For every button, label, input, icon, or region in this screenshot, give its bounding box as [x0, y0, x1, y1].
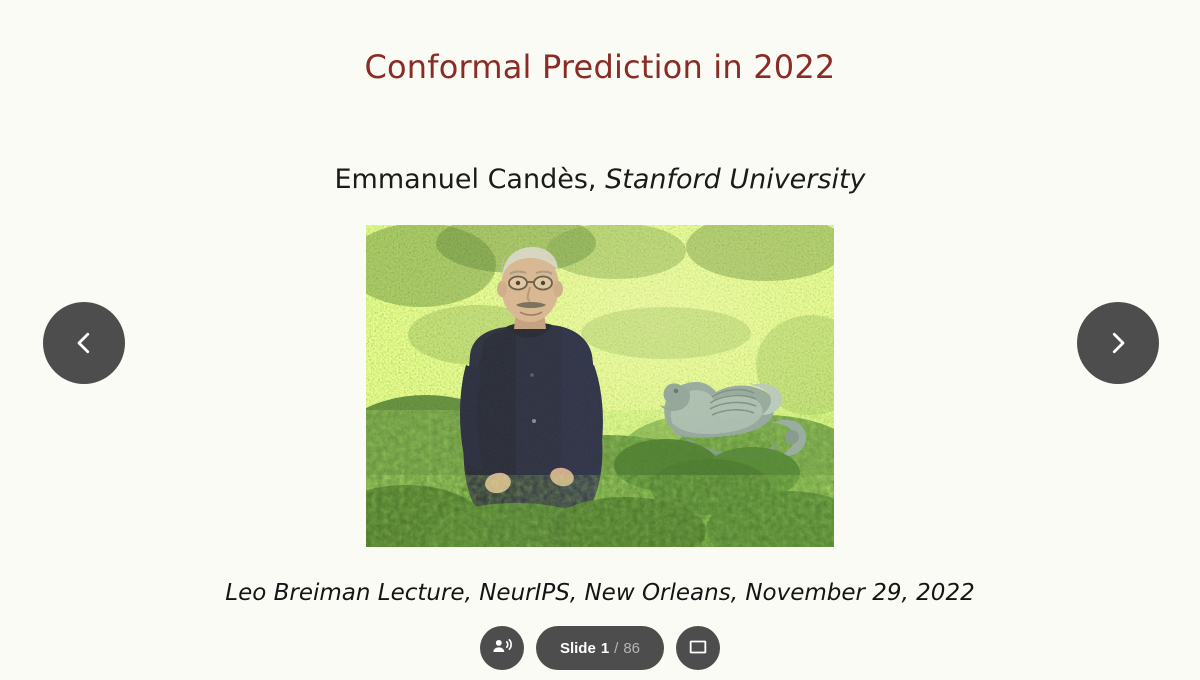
slide-viewer: Conformal Prediction in 2022 Emmanuel Ca… — [0, 0, 1200, 680]
slide-title: Conformal Prediction in 2022 — [364, 50, 835, 85]
next-slide-button[interactable] — [1077, 302, 1159, 384]
presenter-audio-icon — [491, 636, 513, 661]
slide-content: Conformal Prediction in 2022 Emmanuel Ca… — [0, 0, 1200, 680]
prev-slide-button[interactable] — [43, 302, 125, 384]
chevron-left-icon — [69, 328, 99, 358]
breiman-garden-photo — [366, 225, 834, 547]
chevron-right-icon — [1103, 328, 1133, 358]
fullscreen-button[interactable] — [676, 626, 720, 670]
slide-counter-current: 1 — [601, 640, 609, 657]
slide-caption: Leo Breiman Lecture, NeurIPS, New Orlean… — [225, 580, 974, 606]
author-name: Emmanuel Candès, — [334, 164, 596, 195]
slide-counter-prefix: Slide — [560, 640, 596, 657]
slide-counter[interactable]: Slide 1 / 86 — [536, 626, 664, 670]
slide-author-line: Emmanuel Candès, Stanford University — [334, 165, 865, 195]
slide-counter-total: 86 — [623, 640, 640, 657]
slide-counter-separator: / — [614, 640, 618, 657]
slide-control-bar: Slide 1 / 86 — [0, 626, 1200, 670]
slide-photo — [366, 225, 834, 547]
fullscreen-icon — [687, 636, 709, 661]
presenter-view-button[interactable] — [480, 626, 524, 670]
author-affiliation: Stanford University — [605, 164, 865, 195]
